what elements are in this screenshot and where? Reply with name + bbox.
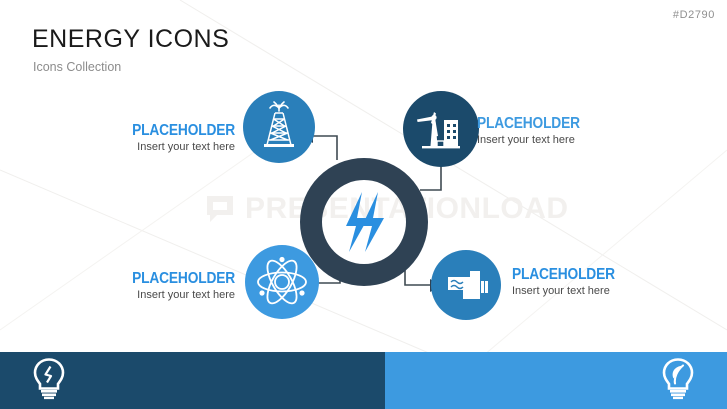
lightning-bolt-icon bbox=[346, 192, 384, 252]
lightbulb-filament-icon bbox=[32, 357, 66, 404]
page-title: ENERGY ICONS bbox=[32, 25, 229, 54]
node-circle-oil[interactable] bbox=[243, 91, 315, 163]
power-plant-icon bbox=[440, 259, 492, 311]
node-circle-atom[interactable] bbox=[245, 245, 319, 319]
slide-code: #D2790 bbox=[673, 9, 715, 21]
placeholder-body-wind: Insert your text here bbox=[477, 133, 637, 147]
placeholder-title-plant: PLACEHOLDER bbox=[512, 266, 650, 283]
footer-bar bbox=[0, 352, 727, 409]
speech-bubble-icon bbox=[205, 194, 235, 224]
label-block-wind: PLACEHOLDER Insert your text here bbox=[477, 115, 637, 147]
placeholder-title-oil: PLACEHOLDER bbox=[115, 122, 235, 139]
label-block-oil: PLACEHOLDER Insert your text here bbox=[95, 122, 235, 154]
oil-derrick-icon bbox=[251, 99, 307, 155]
footer-right-panel bbox=[385, 352, 727, 409]
label-block-atom: PLACEHOLDER Insert your text here bbox=[95, 270, 235, 302]
footer-left-panel bbox=[0, 352, 385, 409]
placeholder-title-wind: PLACEHOLDER bbox=[477, 115, 615, 132]
label-block-plant: PLACEHOLDER Insert your text here bbox=[512, 266, 672, 298]
node-circle-plant[interactable] bbox=[431, 250, 501, 320]
slide: ENERGY ICONS Icons Collection #D2790 PRE… bbox=[0, 0, 727, 409]
placeholder-body-plant: Insert your text here bbox=[512, 284, 672, 298]
wind-turbine-icon bbox=[410, 98, 472, 160]
page-subtitle: Icons Collection bbox=[33, 60, 121, 74]
placeholder-body-atom: Insert your text here bbox=[95, 288, 235, 302]
atom-icon bbox=[253, 253, 311, 311]
placeholder-body-oil: Insert your text here bbox=[95, 140, 235, 154]
lightbulb-leaf-icon bbox=[661, 357, 695, 404]
placeholder-title-atom: PLACEHOLDER bbox=[115, 270, 235, 287]
node-circle-wind[interactable] bbox=[403, 91, 479, 167]
